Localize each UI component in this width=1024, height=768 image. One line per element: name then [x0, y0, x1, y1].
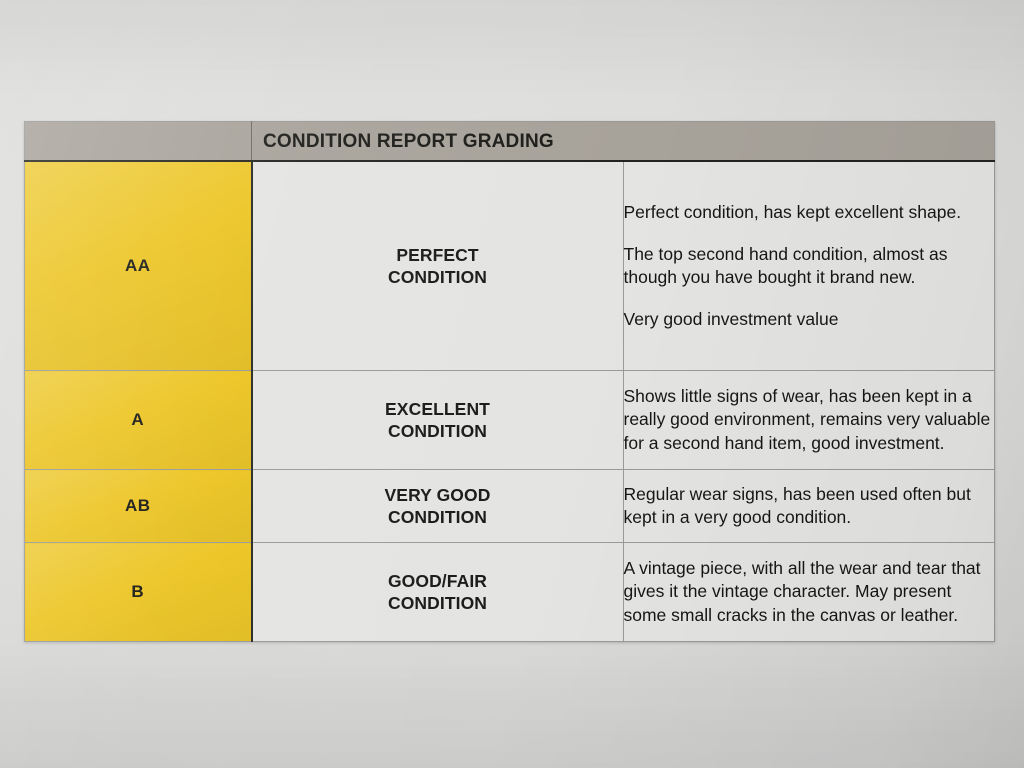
description-paragraph: The top second hand condition, almost as… [624, 243, 995, 290]
condition-name-line2: CONDITION [253, 506, 623, 528]
description-cell-a: Shows little signs of wear, has been kep… [623, 371, 995, 470]
grade-cell-b: B [25, 543, 252, 642]
page-title: CONDITION REPORT GRADING [252, 132, 994, 151]
grade-cell-aa: AA [25, 161, 252, 371]
condition-name-cell-ab: VERY GOOD CONDITION [252, 470, 624, 543]
condition-name-line1: EXCELLENT [253, 398, 623, 420]
grade-label: B [131, 582, 144, 601]
grade-cell-ab: AB [25, 470, 252, 543]
table-header-row: CONDITION REPORT GRADING [25, 122, 995, 162]
table-row: B GOOD/FAIR CONDITION A vintage piece, w… [25, 543, 995, 642]
condition-name-line1: VERY GOOD [253, 484, 623, 506]
description-paragraph: Perfect condition, has kept excellent sh… [624, 201, 995, 224]
condition-name-line1: PERFECT [253, 244, 623, 266]
header-blank-cell [25, 122, 252, 162]
table-row: AA PERFECT CONDITION Perfect condition, … [25, 161, 995, 371]
description-paragraph: Shows little signs of wear, has been kep… [624, 385, 995, 455]
description-paragraph: Regular wear signs, has been used often … [624, 483, 995, 530]
grade-cell-a: A [25, 371, 252, 470]
condition-name-cell-b: GOOD/FAIR CONDITION [252, 543, 624, 642]
table-row: A EXCELLENT CONDITION Shows little signs… [25, 371, 995, 470]
description-paragraph: A vintage piece, with all the wear and t… [624, 557, 995, 627]
table-title-cell: CONDITION REPORT GRADING [252, 122, 995, 162]
description-paragraph: Very good investment value [624, 308, 995, 331]
grade-label: A [131, 410, 144, 429]
description-cell-b: A vintage piece, with all the wear and t… [623, 543, 995, 642]
condition-name-line1: GOOD/FAIR [253, 570, 623, 592]
condition-name-line2: CONDITION [253, 266, 623, 288]
description-cell-ab: Regular wear signs, has been used often … [623, 470, 995, 543]
table-row: AB VERY GOOD CONDITION Regular wear sign… [25, 470, 995, 543]
table-header: CONDITION REPORT GRADING [25, 122, 995, 162]
condition-name-cell-a: EXCELLENT CONDITION [252, 371, 624, 470]
grade-label: AA [125, 256, 151, 275]
condition-name-cell-aa: PERFECT CONDITION [252, 161, 624, 371]
condition-report-grading-table: CONDITION REPORT GRADING AA PERFECT COND… [24, 121, 995, 642]
table-body: AA PERFECT CONDITION Perfect condition, … [25, 161, 995, 642]
grade-label: AB [125, 496, 151, 515]
description-cell-aa: Perfect condition, has kept excellent sh… [623, 161, 995, 371]
condition-name-line2: CONDITION [253, 592, 623, 614]
condition-name-line2: CONDITION [253, 420, 623, 442]
